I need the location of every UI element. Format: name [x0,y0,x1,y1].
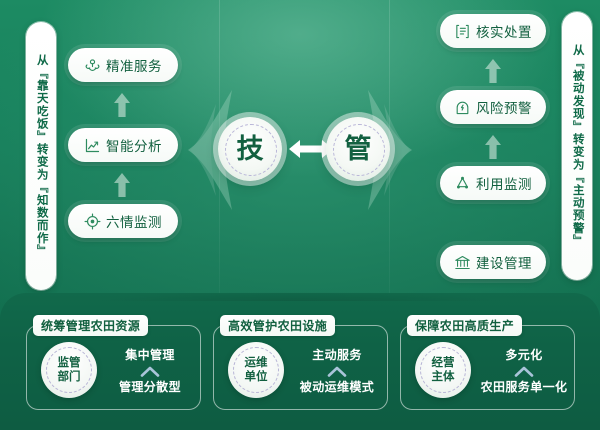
card-title: 保障农田高质生产 [407,315,522,336]
card-circle-operator: 运维 单位 [228,342,284,398]
chevron-up-icon [327,364,347,377]
left-transition-text: 从『靠天吃饭』转变为『知数而作』 [35,54,47,257]
chevron-up-icon [140,364,160,377]
center-circle-manage-label: 管 [345,136,372,163]
right-transition-rail: 从『被动发现』转变为『主动预警』 [562,12,592,280]
bank-building-icon [454,254,471,271]
clipboard-check-icon [454,23,471,40]
transition-target: 主动服务 [292,346,382,363]
pill-label: 六情监测 [106,211,162,231]
card-circle-label: 运维 单位 [245,356,268,385]
card-transition-operator: 主动服务 被动运维模式 [292,346,382,395]
card-circle-label: 监管 部门 [58,356,81,385]
pill-label: 核实处置 [476,21,532,41]
card-circle-producer: 经营 主体 [415,342,471,398]
pill-label: 利用监测 [476,173,532,193]
transition-target: 集中管理 [107,346,193,363]
bottom-card-regulator: 统筹管理农田资源 监管 部门 集中管理 管理分散型 [26,325,201,410]
pill-utilization-monitoring[interactable]: 利用监测 [440,166,546,200]
arrow-up-tech-1 [113,92,131,118]
pill-label: 风险预警 [476,97,532,117]
card-circle-label: 经营 主体 [432,356,455,385]
pill-verify-disposal[interactable]: 核实处置 [440,14,546,48]
chart-line-icon [84,137,101,154]
card-circle-regulator: 监管 部门 [41,342,97,398]
pill-risk-warning[interactable]: 风险预警 [440,90,546,124]
card-title: 统筹管理农田资源 [33,315,148,336]
hands-sprout-icon [84,57,101,74]
bottom-card-operator: 高效管护农田设施 运维 单位 主动服务 被动运维模式 [213,325,388,410]
center-circle-tech-label: 技 [237,136,264,163]
infographic-canvas: 从『靠天吃饭』转变为『知数而作』 从『被动发现』转变为『主动预警』 精准服务 [0,0,600,430]
card-transition-producer: 多元化 农田服务单一化 [477,346,571,395]
chevron-up-icon [514,364,534,377]
arrow-up-manage-2 [484,134,502,160]
transition-origin: 被动运维模式 [292,378,382,395]
pill-label: 建设管理 [476,252,532,272]
center-circle-manage: 管 [326,117,390,181]
recycle-nodes-icon [454,175,471,192]
target-crosshair-icon [84,213,101,230]
right-transition-text: 从『被动发现』转变为『主动预警』 [571,44,583,247]
arrow-up-tech-2 [113,172,131,198]
transition-origin: 农田服务单一化 [477,378,571,395]
pill-label: 精准服务 [106,55,162,75]
pill-six-condition-monitoring[interactable]: 六情监测 [68,204,178,238]
card-transition-regulator: 集中管理 管理分散型 [107,346,193,395]
shield-alert-icon [454,99,471,116]
arrow-up-manage-1 [484,58,502,84]
transition-target: 多元化 [477,346,571,363]
transition-origin: 管理分散型 [107,378,193,395]
left-transition-rail: 从『靠天吃饭』转变为『知数而作』 [26,22,56,290]
pill-construction-management[interactable]: 建设管理 [440,245,546,279]
pill-smart-analysis[interactable]: 智能分析 [68,128,178,162]
center-circle-tech: 技 [218,117,282,181]
pill-precision-service[interactable]: 精准服务 [68,48,178,82]
card-title: 高效管护农田设施 [220,315,335,336]
bottom-card-producer: 保障农田高质生产 经营 主体 多元化 农田服务单一化 [400,325,575,410]
pill-label: 智能分析 [106,135,162,155]
